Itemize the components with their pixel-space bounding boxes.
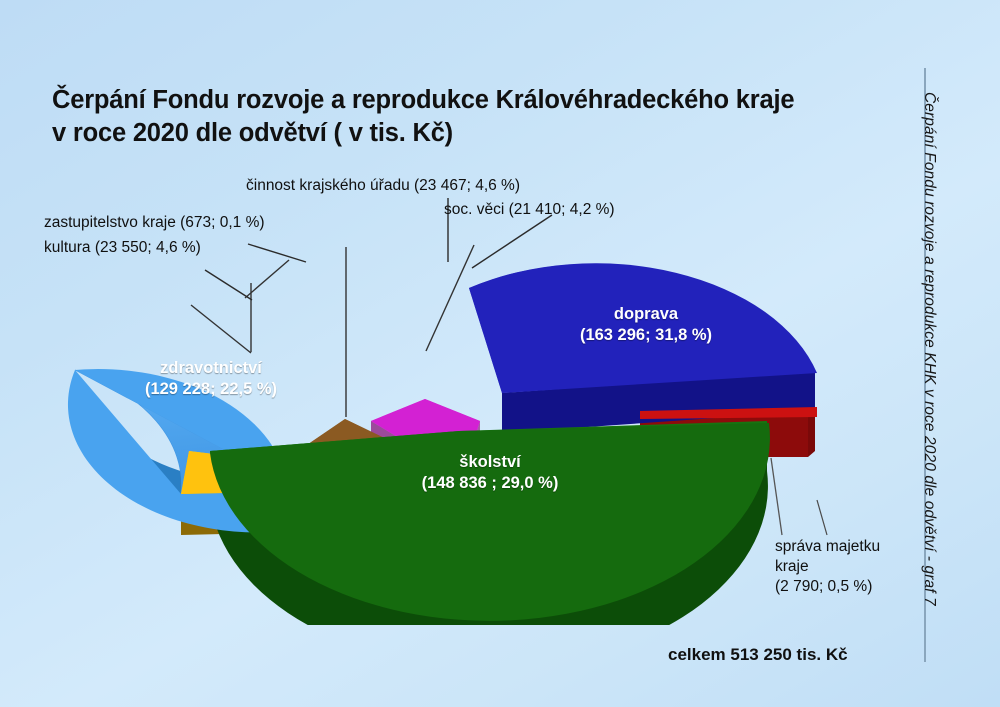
slice-side-sprava-b (808, 411, 815, 457)
pie-chart-svg (55, 205, 845, 625)
callout-sprava-majetku-kraje: správa majetku kraje (2 790; 0,5 %) (775, 537, 880, 597)
leader-line-sprava (771, 458, 782, 535)
slide-canvas: Čerpání Fondu rozvoje a reprodukce Králo… (0, 0, 1000, 707)
callout-soc-veci: soc. věci (21 410; 4,2 %) (444, 200, 615, 220)
slice-label-zdravotnictvi: zdravotnictví (129 228; 22,5 %) (96, 358, 326, 400)
leader-line-zastupitelstvo-b (245, 260, 289, 298)
total-label: celkem 513 250 tis. Kč (668, 645, 848, 665)
callout-zastupitelstvo-kraje: zastupitelstvo kraje (673; 0,1 %) (44, 213, 265, 233)
leader-line-kultura-a (191, 305, 251, 353)
leader-line-soc-veci (426, 245, 474, 351)
slice-label-skolstvi: školství (148 836 ; 29,0 %) (380, 452, 600, 494)
callout-kultura: kultura (23 550; 4,6 %) (44, 238, 201, 258)
pie-chart: činnost krajského úřadu (23 467; 4,6 %) … (0, 0, 1000, 707)
slice-label-doprava: doprava (163 296; 31,8 %) (536, 304, 756, 346)
callout-cinnost-krajskeho-uradu: činnost krajského úřadu (23 467; 4,6 %) (246, 176, 520, 196)
